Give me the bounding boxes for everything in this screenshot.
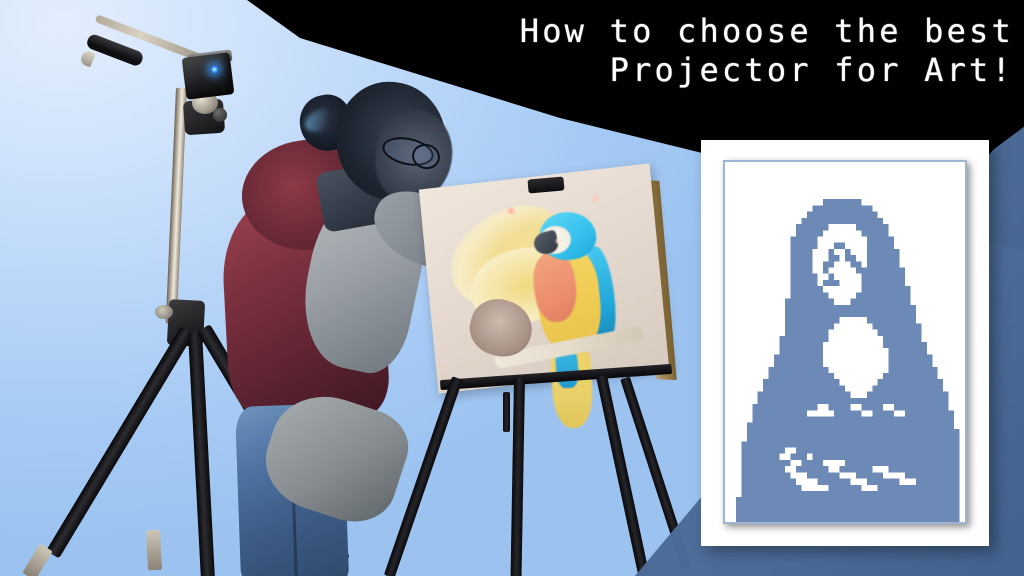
projection-sparkle-1: [508, 208, 514, 214]
mona-lisa-pixel-art: [725, 162, 965, 522]
framed-pixel-art: [701, 140, 989, 546]
tripod-hub-bolt: [155, 305, 173, 319]
projection-sparkle-2: [592, 196, 598, 202]
projector-body: [182, 52, 235, 100]
projector-led-indicator: [210, 65, 219, 74]
tripod-foot-middle: [146, 530, 162, 571]
tripod-lock-knob: [213, 108, 227, 122]
title-line-1: How to choose the best: [394, 12, 1014, 51]
video-thumbnail: How to choose the best Projector for Art…: [0, 0, 1024, 576]
thumbnail-title: How to choose the best Projector for Art…: [394, 12, 1014, 90]
easel-brace: [503, 392, 510, 432]
picture-mat: [723, 160, 967, 524]
projection-sparkle-3: [556, 238, 562, 244]
title-line-2: Projector for Art!: [394, 51, 1014, 90]
